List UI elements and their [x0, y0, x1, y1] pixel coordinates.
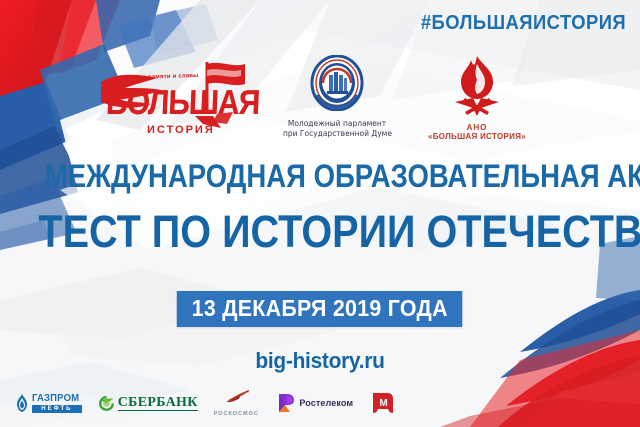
sponsor-rostelecom: Ростелеком [277, 386, 355, 420]
youth-parliament-emblem-icon [309, 55, 365, 111]
roscosmos-rocket-icon [221, 389, 251, 405]
logo-big-history: Год памяти и славы БОЛЬШАЯ ИСТОРИЯ [95, 58, 260, 144]
flame-star-icon [451, 54, 503, 116]
headline: МЕЖДУНАРОДНАЯ ОБРАЗОВАТЕЛЬНАЯ АКЦИЯ [45, 158, 595, 194]
event-date-banner: 13 ДЕКАБРЯ 2019 ГОДА [177, 291, 463, 327]
logo-youth-parliament: Молодежный парламент при Государственной… [283, 55, 391, 145]
logo-caption-line1: АНО [422, 123, 532, 132]
rostelecom-mark-icon [277, 392, 295, 414]
logo-caption: Молодежный парламент при Государственной… [283, 119, 391, 139]
logo-caption-line2: при Государственной Думе [283, 129, 392, 138]
mj-logo-icon: M [370, 391, 396, 415]
page-title: ТЕСТ ПО ИСТОРИИ ОТЕЧЕСТВА [38, 206, 601, 258]
sponsor-subname: НЕФТЬ [32, 405, 82, 413]
date-row: 13 ДЕКАБРЯ 2019 ГОДА [0, 291, 640, 327]
sponsor-name: Ростелеком [299, 398, 353, 409]
sponsor-name: СБЕРБАНК [118, 395, 198, 411]
sponsor-roscosmos: РОСКОСМОС [214, 386, 259, 420]
logo-caption-line2: «БОЛЬШАЯ ИСТОРИЯ» [422, 132, 532, 141]
logo-subtitle: ИСТОРИЯ [147, 124, 215, 136]
hashtag: #БОЛЬШАЯИСТОРИЯ [421, 12, 626, 35]
sponsor-name: ГАЗПРОМ [32, 394, 79, 404]
gazprom-flame-icon [14, 393, 30, 413]
sponsor-gazprom-neft: ГАЗПРОМ НЕФТЬ [14, 386, 82, 420]
logo-ano-big-history: АНО «БОЛЬШАЯ ИСТОРИЯ» [422, 54, 532, 146]
sponsor-sberbank: СБЕРБАНК [98, 386, 198, 420]
svg-text:M: M [380, 398, 388, 409]
sponsor-row: ГАЗПРОМ НЕФТЬ СБЕРБАНК РОСКОСМОС [14, 386, 384, 420]
logo-caption-line1: Молодежный парламент [288, 119, 386, 128]
sponsor-name: РОСКОСМОС [214, 411, 259, 417]
sponsor-mj: M MJ [370, 386, 396, 420]
sberbank-circle-icon [98, 395, 115, 412]
poster: #БОЛЬШАЯИСТОРИЯ Год памяти и славы БОЛЬШ… [0, 0, 640, 427]
website-url[interactable]: big-history.ru [16, 348, 624, 374]
logo-name: БОЛЬШАЯ [105, 84, 260, 123]
